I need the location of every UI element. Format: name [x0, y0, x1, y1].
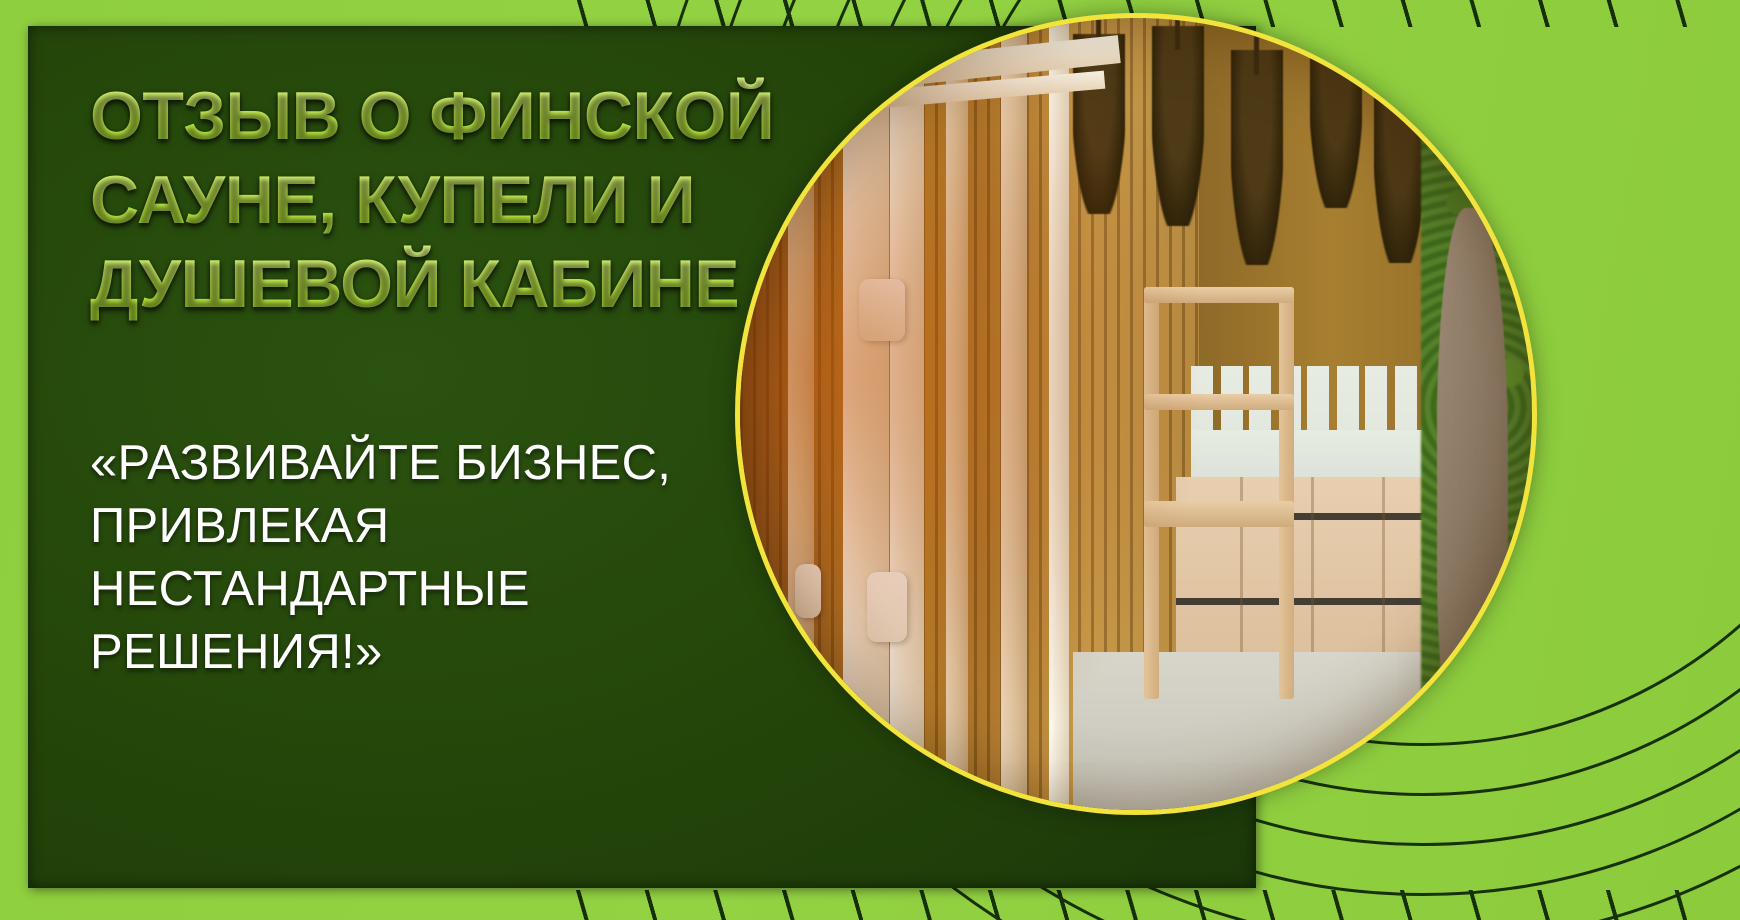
- promo-banner: ОТЗЫВ О ФИНСКОЙ САУНЕ, КУПЕЛИ И ДУШЕВОЙ …: [0, 0, 1740, 920]
- subheadline-line-4: РЕШЕНИЯ!»: [90, 621, 810, 684]
- circular-photo-frame: [740, 18, 1532, 810]
- subheadline-quote: «РАЗВИВАЙТЕ БИЗНЕС, ПРИВЛЕКАЯ НЕСТАНДАРТ…: [90, 432, 810, 684]
- subheadline-line-1: «РАЗВИВАЙТЕ БИЗНЕС,: [90, 432, 810, 495]
- photo-vignette: [740, 18, 1532, 810]
- headline-line-1: ОТЗЫВ О ФИНСКОЙ: [90, 74, 850, 158]
- bottom-diagonal-stripes: [520, 890, 1740, 920]
- sauna-interior-photo: [740, 18, 1532, 810]
- headline-line-3: ДУШЕВОЙ КАБИНЕ: [90, 242, 850, 326]
- subheadline-line-3: НЕСТАНДАРТНЫЕ: [90, 558, 810, 621]
- headline-line-2: САУНЕ, КУПЕЛИ И: [90, 158, 850, 242]
- headline: ОТЗЫВ О ФИНСКОЙ САУНЕ, КУПЕЛИ И ДУШЕВОЙ …: [90, 74, 850, 326]
- subheadline-line-2: ПРИВЛЕКАЯ: [90, 495, 810, 558]
